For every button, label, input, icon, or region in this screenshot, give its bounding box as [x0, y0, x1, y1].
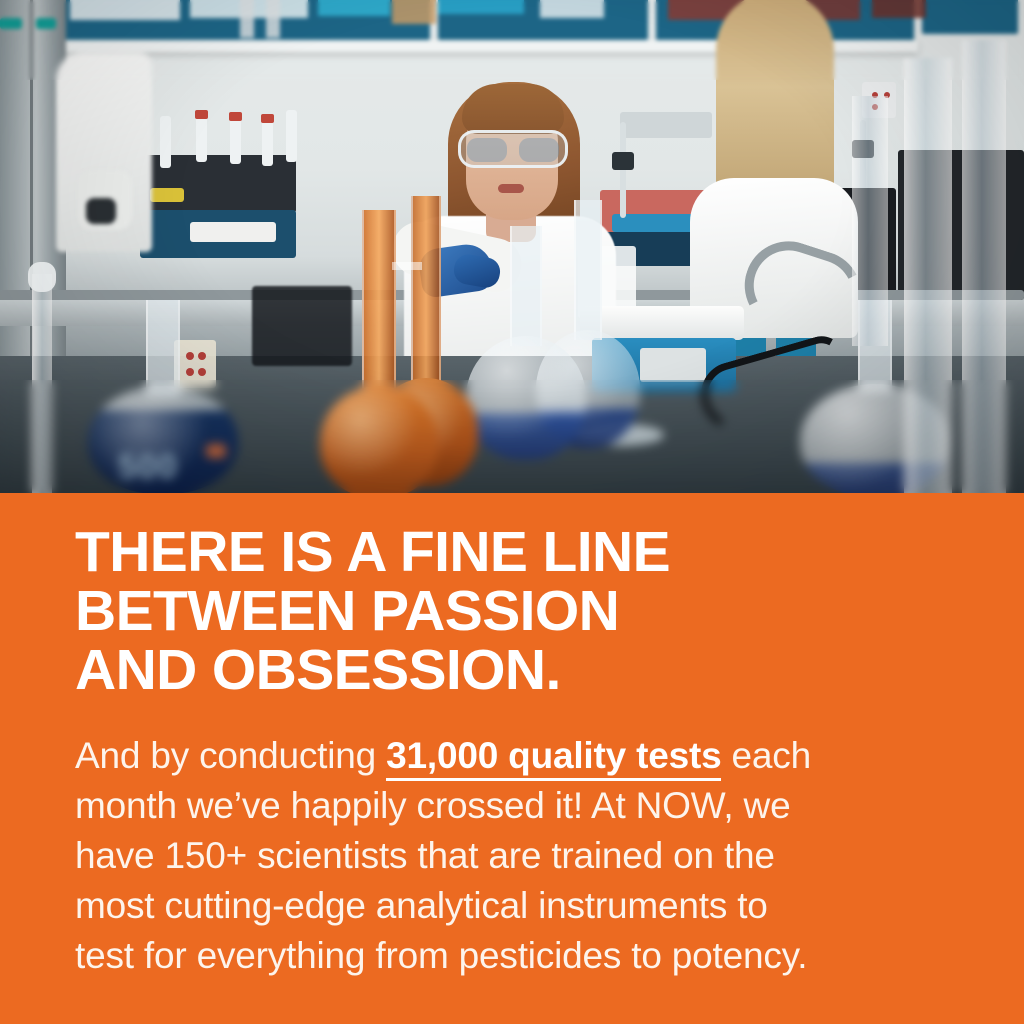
headline-line-1: THERE IS A FINE LINE — [75, 523, 955, 582]
body-line-4: most cutting-edge analytical instruments… — [75, 881, 955, 931]
highlight-quality-tests: 31,000 quality tests — [386, 735, 721, 781]
body-line-2: month we’ve happily crossed it! At NOW, … — [75, 781, 955, 831]
body-paragraph: And by conducting 31,000 quality tests e… — [75, 731, 955, 981]
body-line-5: test for everything from pesticides to p… — [75, 931, 955, 981]
promo-poster: 500 THERE IS A FINE LINE BETWEEN PASSION… — [0, 0, 1024, 1024]
lab-photo: 500 — [0, 0, 1024, 493]
body-line-1-post: each — [721, 735, 811, 776]
photo-vignette — [0, 0, 1024, 493]
page-title: THERE IS A FINE LINE BETWEEN PASSION AND… — [75, 523, 955, 700]
body-line-3: have 150+ scientists that are trained on… — [75, 831, 955, 881]
body-line-1-pre: And by conducting — [75, 735, 386, 776]
headline-line-3: AND OBSESSION. — [75, 641, 955, 700]
headline-line-2: BETWEEN PASSION — [75, 582, 955, 641]
orange-text-panel: THERE IS A FINE LINE BETWEEN PASSION AND… — [0, 493, 1024, 1024]
body-line-1: And by conducting 31,000 quality tests e… — [75, 731, 955, 781]
